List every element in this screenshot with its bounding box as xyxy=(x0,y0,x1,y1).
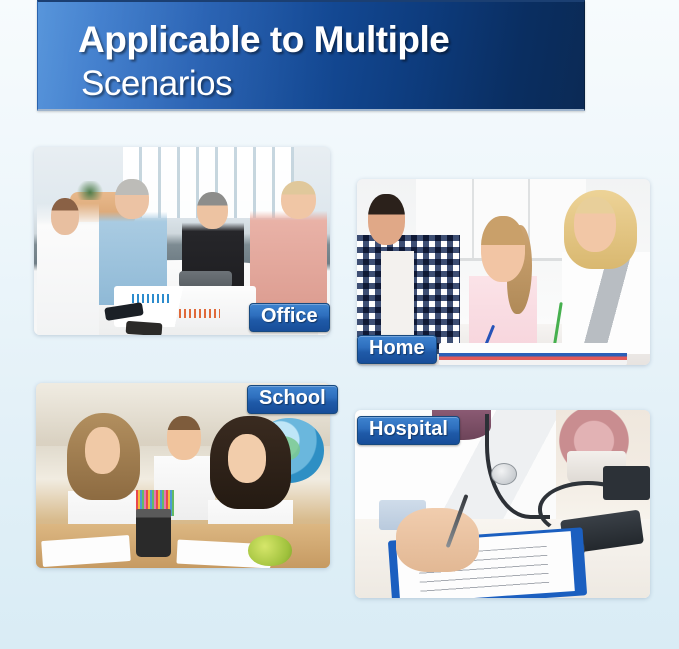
school-girl-right-face xyxy=(228,434,267,483)
badge-hospital[interactable]: Hospital xyxy=(357,416,460,445)
hospital-writing-hand xyxy=(396,508,479,572)
office-person-1 xyxy=(37,198,99,335)
home-mother xyxy=(556,190,650,354)
banner-title-line-1: Applicable to Multiple xyxy=(78,19,449,61)
office-chart-orange xyxy=(179,309,220,318)
office-person-3-head xyxy=(197,192,228,229)
office-chart-blue xyxy=(132,294,170,303)
home-father-tshirt xyxy=(381,251,414,341)
office-person-2-head xyxy=(115,179,149,219)
home-mother-head xyxy=(574,197,617,253)
home-father xyxy=(357,194,460,354)
banner-title-line-2: Scenarios xyxy=(81,64,232,104)
school-pencil-cup xyxy=(136,509,171,557)
home-father-head xyxy=(368,194,405,245)
office-person-1-head xyxy=(51,198,80,235)
school-girl-left-face xyxy=(85,427,120,475)
school-apple xyxy=(248,535,292,566)
hospital-bp-cuff xyxy=(603,466,650,500)
badge-home[interactable]: Home xyxy=(357,335,437,364)
header-banner: Applicable to Multiple Scenarios xyxy=(37,0,585,111)
office-person-4 xyxy=(250,181,327,305)
office-person-4-head xyxy=(281,181,316,219)
badge-school[interactable]: School xyxy=(247,385,338,414)
badge-office[interactable]: Office xyxy=(249,303,330,332)
home-daughter-head xyxy=(481,216,525,281)
home-notebooks xyxy=(439,343,627,365)
school-boy-head xyxy=(167,416,200,460)
office-wallet xyxy=(125,321,161,335)
